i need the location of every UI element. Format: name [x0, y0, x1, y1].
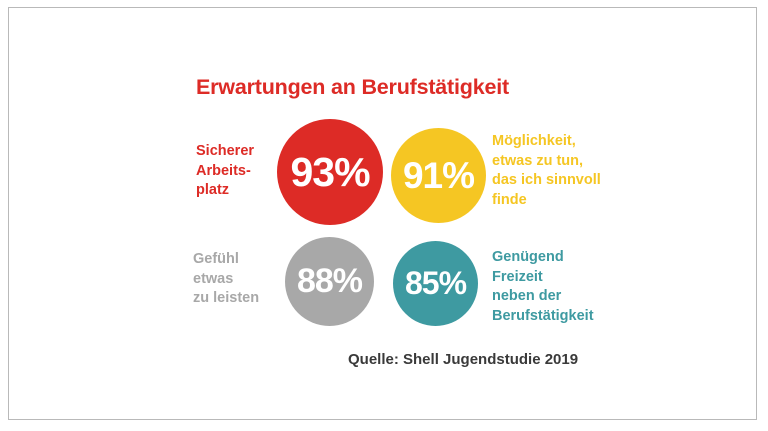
- stat-circle-gefuehl-etwas-zu-leisten: 88%: [285, 237, 374, 326]
- stat-value-93: 93%: [290, 149, 369, 196]
- stat-circle-sicherer-arbeitsplatz: 93%: [277, 119, 383, 225]
- page-title: Erwartungen an Berufstätigkeit: [196, 75, 509, 100]
- stat-value-88: 88%: [297, 262, 362, 301]
- source-attribution: Quelle: Shell Jugendstudie 2019: [348, 351, 578, 368]
- label-genuegend-freizeit: Genügend Freizeit neben der Berufstätigk…: [492, 248, 627, 326]
- label-sicherer-arbeitsplatz: Sicherer Arbeits- platz: [196, 142, 276, 201]
- stat-circle-sinnvolle-taetigkeit: 91%: [391, 128, 486, 223]
- label-sinnvolle-taetigkeit: Möglichkeit, etwas zu tun, das ich sinnv…: [492, 132, 622, 210]
- stat-value-85: 85%: [405, 265, 466, 302]
- label-gefuehl-etwas-zu-leisten: Gefühl etwas zu leisten: [193, 250, 278, 309]
- infographic-canvas: Erwartungen an Berufstätigkeit Sicherer …: [0, 0, 768, 431]
- stat-circle-genuegend-freizeit: 85%: [393, 241, 478, 326]
- stat-value-91: 91%: [403, 155, 474, 197]
